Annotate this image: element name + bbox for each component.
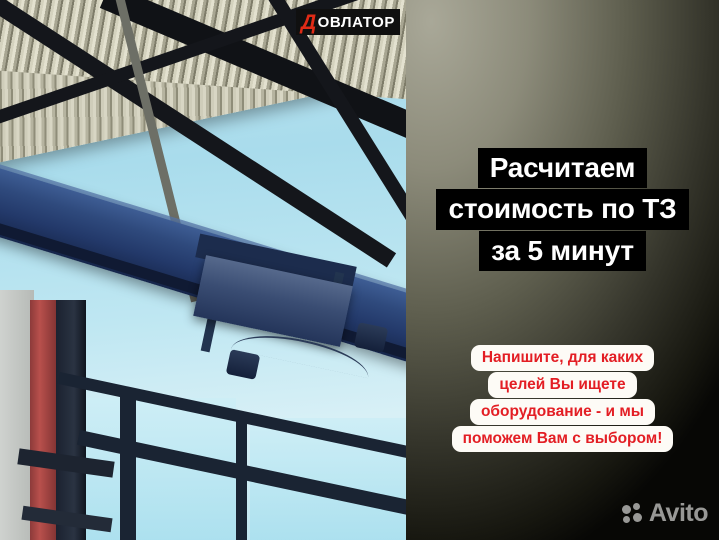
window-mullion <box>120 390 136 540</box>
avito-watermark: Avito <box>622 501 708 526</box>
brand-logo-text: ОВЛАТОР <box>318 15 395 30</box>
building-wall <box>0 290 34 540</box>
red-structural-column <box>30 300 58 540</box>
steel-column <box>56 300 86 540</box>
brand-logo[interactable]: ДОВЛАТОР <box>296 9 400 35</box>
subcopy-line: оборудование - и мы <box>470 399 655 425</box>
subcopy-line: Напишите, для каких <box>471 345 654 371</box>
brand-logo-initial: Д <box>301 12 317 33</box>
headline-line: Расчитаем <box>478 148 648 188</box>
subcopy-line: целей Вы ищете <box>488 372 636 398</box>
subcopy-line: поможем Вам с выбором! <box>452 426 674 452</box>
copy-panel: Расчитаем стоимость по ТЗ за 5 минут Нап… <box>406 0 719 540</box>
product-photo: ДОВЛАТОР <box>0 0 406 540</box>
advertisement-banner: ДОВЛАТОР Расчитаем стоимость по ТЗ за 5 … <box>0 0 719 540</box>
headline-line: стоимость по ТЗ <box>436 189 688 229</box>
headline-line: за 5 минут <box>479 231 646 271</box>
subcopy: Напишите, для каких целей Вы ищете обору… <box>406 345 719 453</box>
avito-watermark-label: Avito <box>649 501 708 526</box>
window-mullion <box>236 418 247 540</box>
avito-dots-icon <box>622 503 644 525</box>
headline: Расчитаем стоимость по ТЗ за 5 минут <box>406 148 719 272</box>
